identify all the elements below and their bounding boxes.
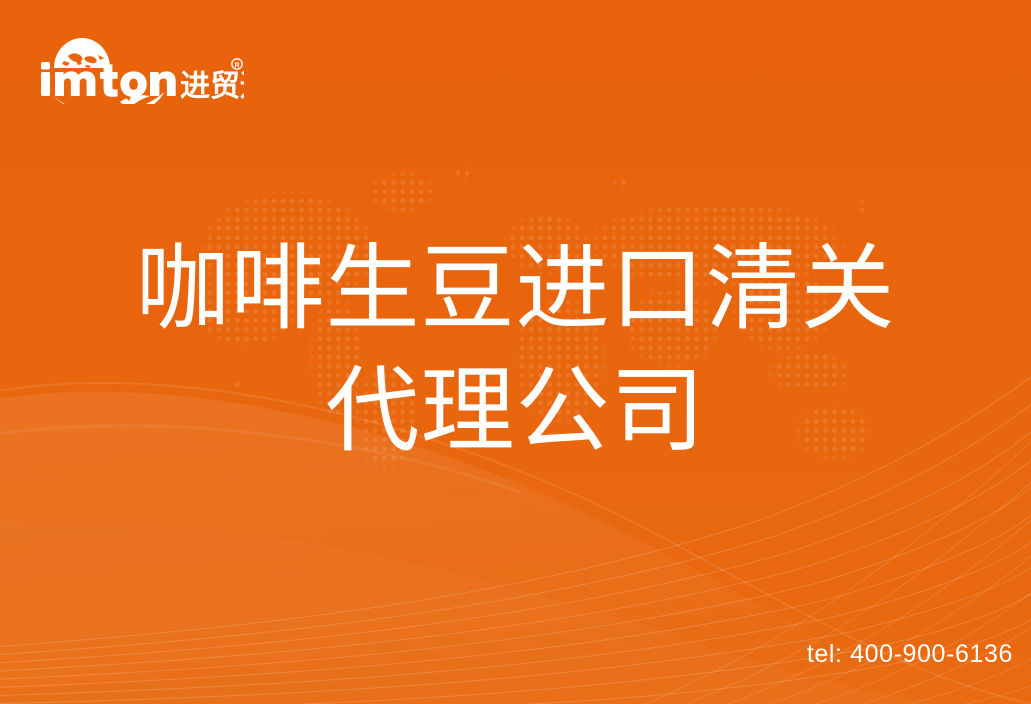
- globe-dome-icon: [52, 38, 112, 68]
- brand-logo[interactable]: 进贸通 R: [34, 28, 244, 104]
- headline-line-2: 代理公司: [0, 350, 1031, 472]
- brand-chinese-text: 进贸通: [180, 70, 244, 103]
- logo-artwork: 进贸通 R: [34, 28, 244, 104]
- registered-trademark-icon: R: [232, 59, 242, 70]
- svg-text:R: R: [234, 62, 239, 69]
- promo-banner: 进贸通 R 咖啡生豆进口清关 代理公司 tel: 400-900-6136: [0, 0, 1031, 704]
- headline-line-1: 咖啡生豆进口清关: [0, 228, 1031, 350]
- headline: 咖啡生豆进口清关 代理公司: [0, 228, 1031, 472]
- contact-phone[interactable]: tel: 400-900-6136: [807, 640, 1013, 669]
